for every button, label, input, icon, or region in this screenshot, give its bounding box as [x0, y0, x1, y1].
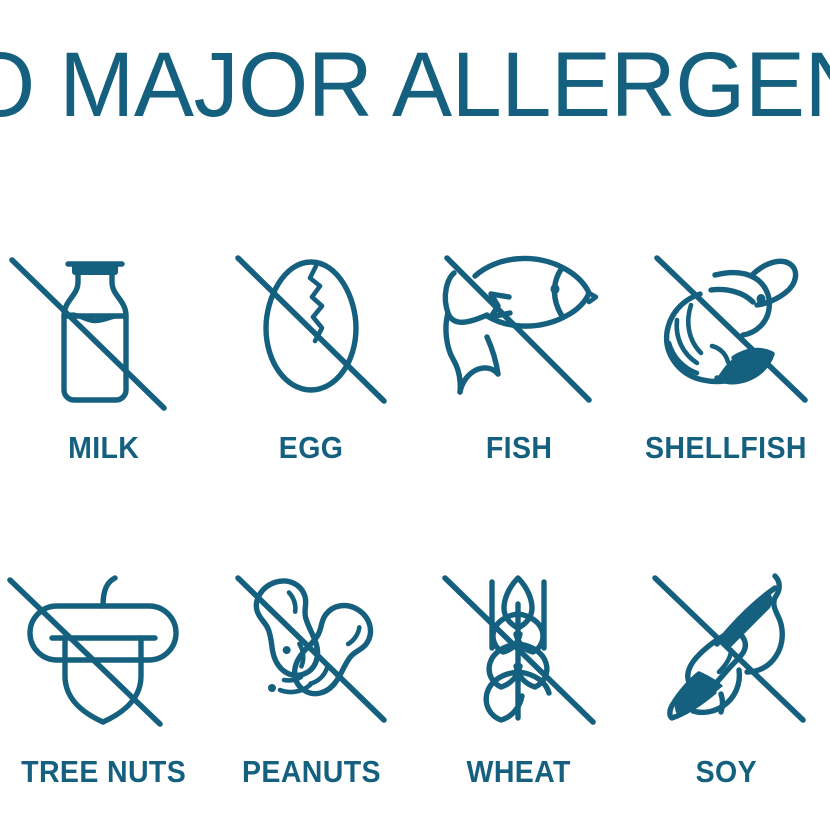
allergen-grid: MILK EGG: [0, 170, 830, 830]
fish-icon: [431, 248, 606, 408]
allergen-item-milk: MILK: [0, 170, 208, 500]
peanuts-icon: [224, 568, 399, 728]
milk-bottle-icon: [16, 248, 191, 408]
allergen-label: TREE NUTS: [21, 754, 186, 790]
wheat-stalk-icon: [431, 568, 606, 728]
allergen-item-wheat: WHEAT: [415, 500, 623, 830]
allergen-item-tree-nuts: TREE NUTS: [0, 500, 208, 830]
allergen-item-soy: SOY: [623, 500, 830, 830]
allergen-item-shellfish: SHELLFISH: [623, 170, 830, 500]
egg-icon: [224, 248, 399, 408]
allergen-item-peanuts: PEANUTS: [208, 500, 416, 830]
allergen-label: SOY: [696, 754, 757, 790]
allergen-free-poster: NO MAJOR ALLERGENS: [0, 0, 830, 830]
soy-pod-icon: [639, 568, 814, 728]
allergen-label: SHELLFISH: [645, 430, 807, 466]
page-title: NO MAJOR ALLERGENS: [0, 0, 830, 170]
allergen-label: FISH: [486, 430, 552, 466]
shrimp-icon: [639, 248, 814, 408]
acorn-icon: [16, 568, 191, 728]
page-title-text: NO MAJOR ALLERGENS: [0, 39, 830, 131]
allergen-label: EGG: [279, 430, 344, 466]
allergen-label: MILK: [68, 430, 139, 466]
allergen-label: PEANUTS: [242, 754, 381, 790]
allergen-item-egg: EGG: [208, 170, 416, 500]
allergen-label: WHEAT: [467, 754, 571, 790]
allergen-item-fish: FISH: [415, 170, 623, 500]
